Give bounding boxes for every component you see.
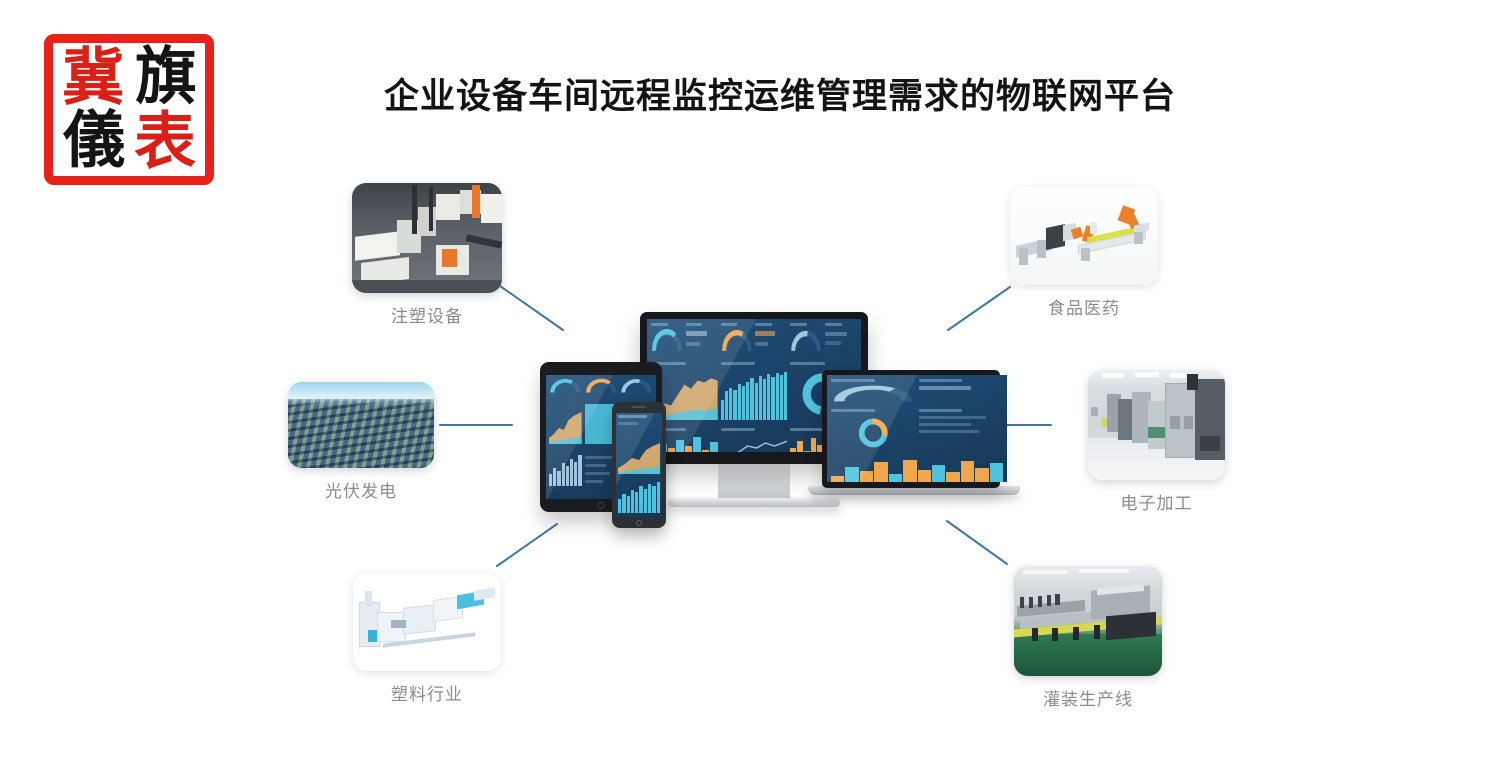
connector-filling-line — [947, 521, 1007, 564]
gauge-widget — [585, 378, 618, 400]
gauge-widget — [620, 378, 653, 400]
monitor-neck — [718, 464, 790, 500]
node-electronics[interactable]: 电子加工 — [1088, 370, 1225, 514]
kpi-widget — [919, 379, 1004, 405]
logo-char-qi: 旗 — [127, 43, 205, 111]
gauge-widget — [721, 323, 753, 357]
gauge-widget — [790, 323, 822, 357]
node-photovoltaic[interactable]: 光伏发电 — [288, 382, 434, 502]
laptop-screen — [827, 375, 1007, 482]
company-logo-stamp: 冀 旗 儀 表 — [44, 34, 214, 185]
gauge-widget — [549, 378, 582, 400]
node-plastics[interactable]: 塑料行业 — [353, 573, 501, 705]
bar-chart-widget — [618, 479, 660, 515]
gauge-widget — [651, 323, 683, 357]
dashboard-device-hub — [540, 300, 970, 520]
node-thumbnail — [288, 382, 434, 468]
kpi-widget — [755, 323, 787, 357]
monitor-foot — [668, 498, 840, 507]
node-label: 电子加工 — [1088, 489, 1225, 514]
device-smartphone — [612, 402, 666, 528]
kpi-widget — [618, 415, 660, 433]
node-label: 注塑设备 — [352, 302, 502, 327]
bar-chart-widget — [721, 362, 788, 424]
node-thumbnail — [1010, 187, 1158, 285]
logo-char-ji: 冀 — [54, 44, 132, 112]
kpi-widget — [686, 323, 718, 357]
donut-chart-widget — [831, 409, 916, 453]
node-injection-molding[interactable]: 注塑设备 — [352, 183, 502, 327]
line-chart-widget — [721, 428, 788, 452]
logo-char-yi: 儀 — [55, 107, 133, 175]
logo-char-biao: 表 — [126, 108, 204, 176]
page-title: 企业设备车间远程监控运维管理需求的物联网平台 — [270, 68, 1290, 119]
node-label: 灌装生产线 — [1014, 685, 1162, 710]
iot-platform-diagram: 冀 旗 儀 表 企业设备车间远程监控运维管理需求的物联网平台 — [0, 0, 1499, 759]
connector-plastics — [497, 524, 557, 566]
device-laptop — [822, 370, 1012, 490]
area-chart-widget — [549, 404, 582, 448]
node-filling-line[interactable]: 灌装生产线 — [1014, 566, 1162, 710]
node-thumbnail — [1088, 370, 1225, 480]
phone-screen — [616, 413, 662, 517]
gauge-widget — [831, 379, 916, 405]
node-label: 塑料行业 — [353, 680, 501, 705]
bar-chart-widget — [831, 457, 1003, 482]
node-thumbnail — [353, 573, 501, 671]
tablet-home-button[interactable] — [598, 502, 605, 509]
node-label: 光伏发电 — [288, 477, 434, 502]
phone-speaker — [632, 406, 646, 408]
area-chart-widget — [618, 436, 660, 476]
bar-chart-widget — [549, 452, 582, 490]
node-label: 食品医药 — [1010, 294, 1158, 319]
phone-home-button[interactable] — [636, 520, 642, 526]
node-thumbnail — [352, 183, 502, 293]
node-thumbnail — [1014, 566, 1162, 676]
node-food-pharma[interactable]: 食品医药 — [1010, 187, 1158, 319]
kpi-widget — [919, 409, 1004, 453]
kpi-widget — [825, 323, 857, 357]
